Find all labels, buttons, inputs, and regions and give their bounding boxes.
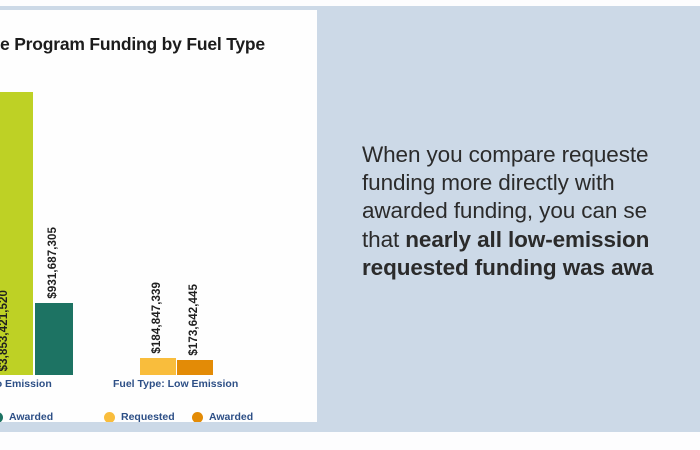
chart-panel: e Program Funding by Fuel Type $3,853,42…: [0, 10, 317, 422]
legend-swatch-dark-orange-icon: [192, 412, 203, 423]
callout-line-4-plain: that: [362, 227, 405, 252]
bar-low-emission-awarded: [177, 360, 213, 375]
slide-canvas: e Program Funding by Fuel Type $3,853,42…: [0, 0, 700, 450]
legend-label-low-emission-requested: Requested: [121, 411, 175, 422]
bar-label-low-emission-requested: $184,847,339: [151, 282, 163, 354]
legend-item-low-emission-requested[interactable]: Requested: [104, 411, 175, 422]
bar-low-emission-requested: [140, 358, 176, 375]
bar-label-no-emission-requested: $3,853,421,520: [0, 290, 10, 371]
legend-swatch-light-orange-icon: [104, 412, 115, 423]
legend-swatch-teal-icon: [0, 412, 3, 423]
plot-area: $3,853,421,520 $931,687,305 $184,847,339…: [0, 70, 300, 375]
legend-item-low-emission-awarded[interactable]: Awarded: [192, 411, 253, 422]
chart-legend: ested Awarded Requested Awarded: [0, 410, 277, 422]
bar-label-low-emission-awarded: $173,642,445: [188, 284, 200, 356]
chart-title: e Program Funding by Fuel Type: [0, 34, 300, 55]
legend-label-no-emission-awarded: Awarded: [9, 411, 53, 422]
axis-label-low-emission: Fuel Type: Low Emission: [113, 378, 238, 390]
callout-line-4-emphasis: nearly all low-emission: [405, 227, 649, 252]
axis-label-no-emission: Type: No Emission: [0, 378, 52, 390]
callout-line-1: When you compare requeste: [362, 141, 700, 169]
callout-line-3: awarded funding, you can se: [362, 197, 700, 225]
callout-line-5: requested funding was awa: [362, 254, 700, 282]
bar-no-emission-awarded: [35, 303, 73, 375]
bar-label-no-emission-awarded: $931,687,305: [47, 227, 59, 299]
legend-label-low-emission-awarded: Awarded: [209, 411, 253, 422]
callout-line-5-emphasis: requested funding was awa: [362, 255, 653, 280]
callout-line-4: that nearly all low-emission: [362, 226, 700, 254]
callout-text: When you compare requeste funding more d…: [362, 141, 700, 282]
callout-line-2: funding more directly with: [362, 169, 700, 197]
legend-item-no-emission-awarded[interactable]: Awarded: [0, 411, 53, 422]
